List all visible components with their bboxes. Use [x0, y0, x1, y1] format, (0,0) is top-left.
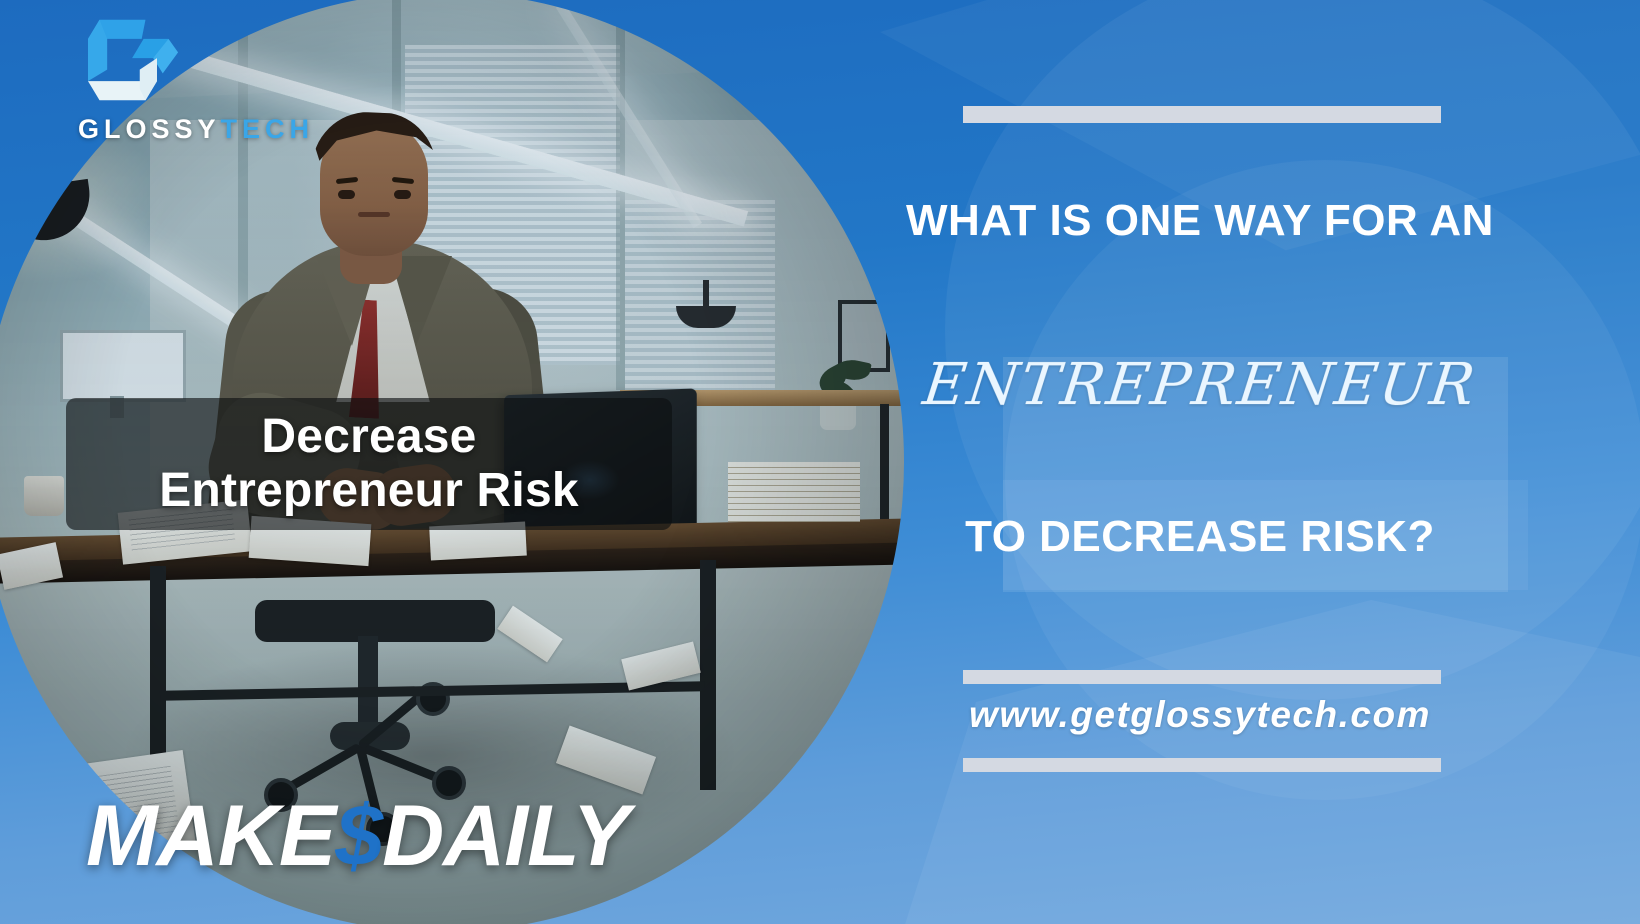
poster-canvas: GLOSSYTECH Decrease Entrepreneur Risk MA… [0, 0, 1640, 924]
makedaily-dollar-icon: $ [335, 788, 382, 884]
photo-caption-box: Decrease Entrepreneur Risk [66, 398, 672, 530]
brand-logo-text: GLOSSYTECH [78, 114, 318, 145]
brand-logo[interactable]: GLOSSYTECH [78, 14, 308, 146]
brand-name-part1: GLOSSY [78, 114, 221, 144]
caption-line-1: Decrease [261, 410, 476, 463]
website-url[interactable]: www.getglossytech.com [900, 694, 1500, 736]
brand-name-part2: TECH [221, 114, 315, 144]
makedaily-logo: MAKE$DAILY [86, 793, 629, 879]
script-headline-entrepreneur: ENTREPRENEUR [896, 350, 1504, 418]
decorative-bar-url-bottom [963, 758, 1441, 772]
photo-caption-text: Decrease Entrepreneur Risk [159, 410, 579, 518]
caption-line-2: Entrepreneur Risk [159, 464, 579, 517]
makedaily-word2: DAILY [382, 788, 629, 884]
headline-line-1: WHAT IS ONE WAY FOR AN [900, 196, 1500, 246]
makedaily-word1: MAKE [86, 788, 335, 884]
decorative-bar-url-top [963, 670, 1441, 684]
headline-line-2: TO DECREASE RISK? [900, 512, 1500, 562]
glossy-g-logo-icon [86, 14, 182, 106]
decorative-bar-top [963, 106, 1441, 123]
